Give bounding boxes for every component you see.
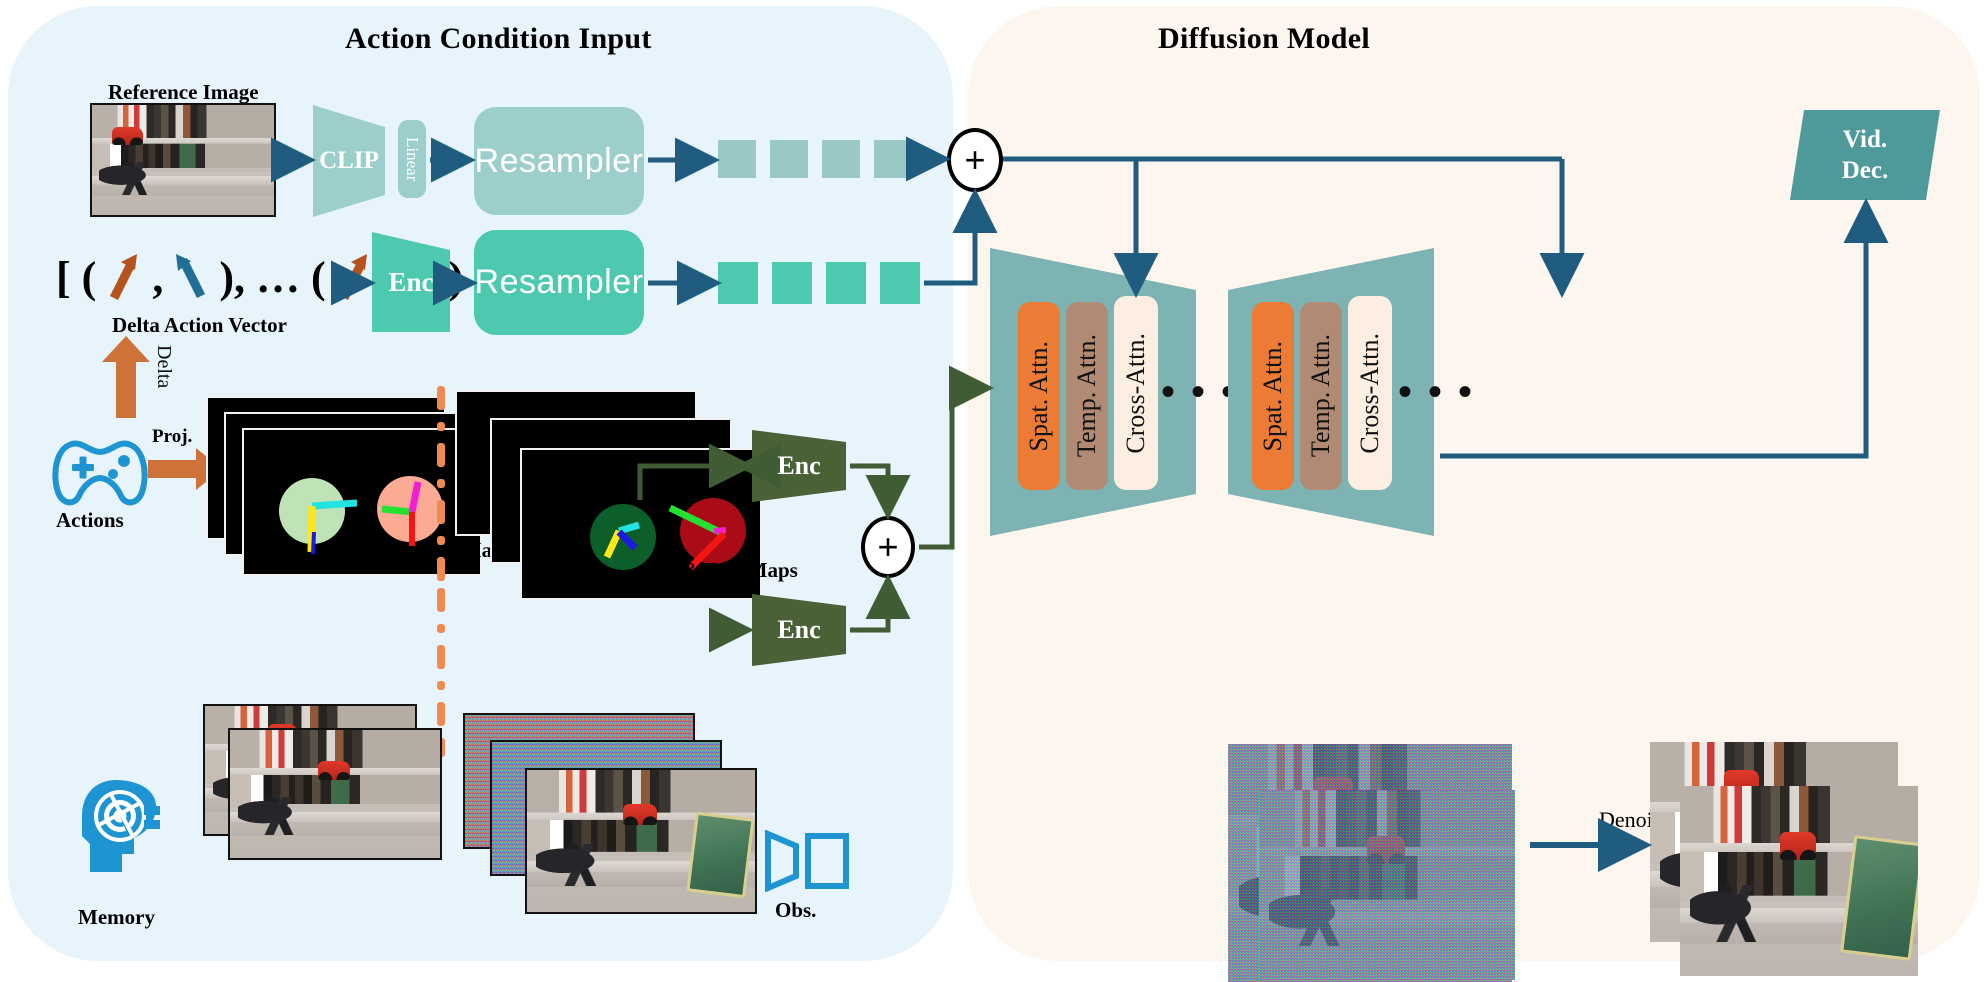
section-divider-upper [432,386,450,586]
action-token [718,262,758,304]
spat-attn-down[interactable]: Spat. Attn. [1018,302,1060,490]
cross-attn-up-label: Cross-Attn. [1355,333,1385,454]
spat-attn-up[interactable]: Spat. Attn. [1252,302,1294,490]
observation-encoder-label: Enc [777,615,820,645]
gamepad-icon [48,434,152,514]
image-token [770,140,808,178]
spat-attn-up-label: Spat. Attn. [1258,341,1288,452]
delta-arrow-up-icon [100,336,152,418]
linear-projection-block[interactable]: Linear [398,120,426,198]
cross-attn-down[interactable]: Cross-Attn. [1114,296,1158,490]
observation-frame-front [525,768,757,914]
reference-image [90,103,276,217]
obs-label: Obs. [775,898,816,923]
arrow-up-right-orange-icon [337,252,371,302]
resampler-image-block[interactable]: Resampler [474,107,644,215]
resampler-action-block[interactable]: Resampler [474,230,644,335]
vector-open-bracket: [ ( [56,253,96,302]
temp-attn-up-label: Temp. Attn. [1306,334,1336,457]
panel-title-action-condition-input: Action Condition Input [345,22,652,56]
resampler-image-label: Resampler [475,142,644,181]
delta-action-vector-label: Delta Action Vector [112,313,287,338]
image-token [874,140,912,178]
sum-operator-latent-symbol: + [877,529,898,565]
video-decoder-label-line1: Vid. [1842,124,1889,155]
proj-label: Proj. [152,426,192,448]
action-map-axes-left [264,466,364,561]
observation-encoder-block[interactable]: Enc [752,594,846,666]
delta-label: Delta [152,345,175,388]
image-token [822,140,860,178]
denoised-output-frame-front [1680,786,1918,976]
video-decoder-label-line2: Dec. [1842,155,1889,186]
action-encoder-label: Enc [388,267,433,298]
resampler-action-label: Resampler [475,263,644,302]
reference-image-label: Reference Image [108,80,259,105]
denoising-input-frame-front [1259,790,1515,980]
cross-attn-up[interactable]: Cross-Attn. [1348,296,1392,490]
ray-maps-label: && Ray Maps [666,558,798,583]
panel-title-diffusion-model: Diffusion Model [1158,22,1370,56]
arrow-up-right-orange-icon [107,252,141,302]
image-token [718,140,756,178]
spat-attn-down-label: Spat. Attn. [1024,341,1054,452]
vector-comma: , [152,253,163,302]
unet-down-ellipsis: • • • [1161,368,1238,415]
memory-label: Memory [78,905,155,930]
action-encoder-block[interactable]: Enc [372,232,450,332]
temp-attn-up[interactable]: Temp. Attn. [1300,302,1342,490]
action-token [880,262,920,304]
sum-operator-condition: + [947,128,1003,192]
sum-operator-condition-symbol: + [964,142,985,178]
clip-label: CLIP [319,147,379,175]
green-book [1840,835,1918,961]
action-token [772,262,812,304]
sum-operator-latent: + [861,516,915,578]
arrow-down-right-blue-icon [174,252,208,302]
linear-label: Linear [402,137,422,181]
clip-encoder-block[interactable]: CLIP [313,105,385,217]
actions-label: Actions [56,508,124,533]
cross-attn-down-label: Cross-Attn. [1121,333,1151,454]
memory-brain-icon [76,776,160,876]
green-book [687,812,756,898]
unet-up-ellipsis: • • • [1398,368,1475,415]
memory-frame-front [228,728,442,860]
camera-obs-icon [764,830,850,892]
action-token [826,262,866,304]
vector-ellipsis: ), … ( [219,253,325,302]
video-decoder-block[interactable]: Vid. Dec. [1790,110,1940,200]
temp-attn-down[interactable]: Temp. Attn. [1066,302,1108,490]
temp-attn-down-label: Temp. Attn. [1072,334,1102,457]
ray-maps-encoder-label: Enc [777,451,820,481]
ray-maps-encoder-block[interactable]: Enc [752,430,846,502]
diagram-canvas: Action Condition Input Diffusion Model R… [0,0,1988,980]
